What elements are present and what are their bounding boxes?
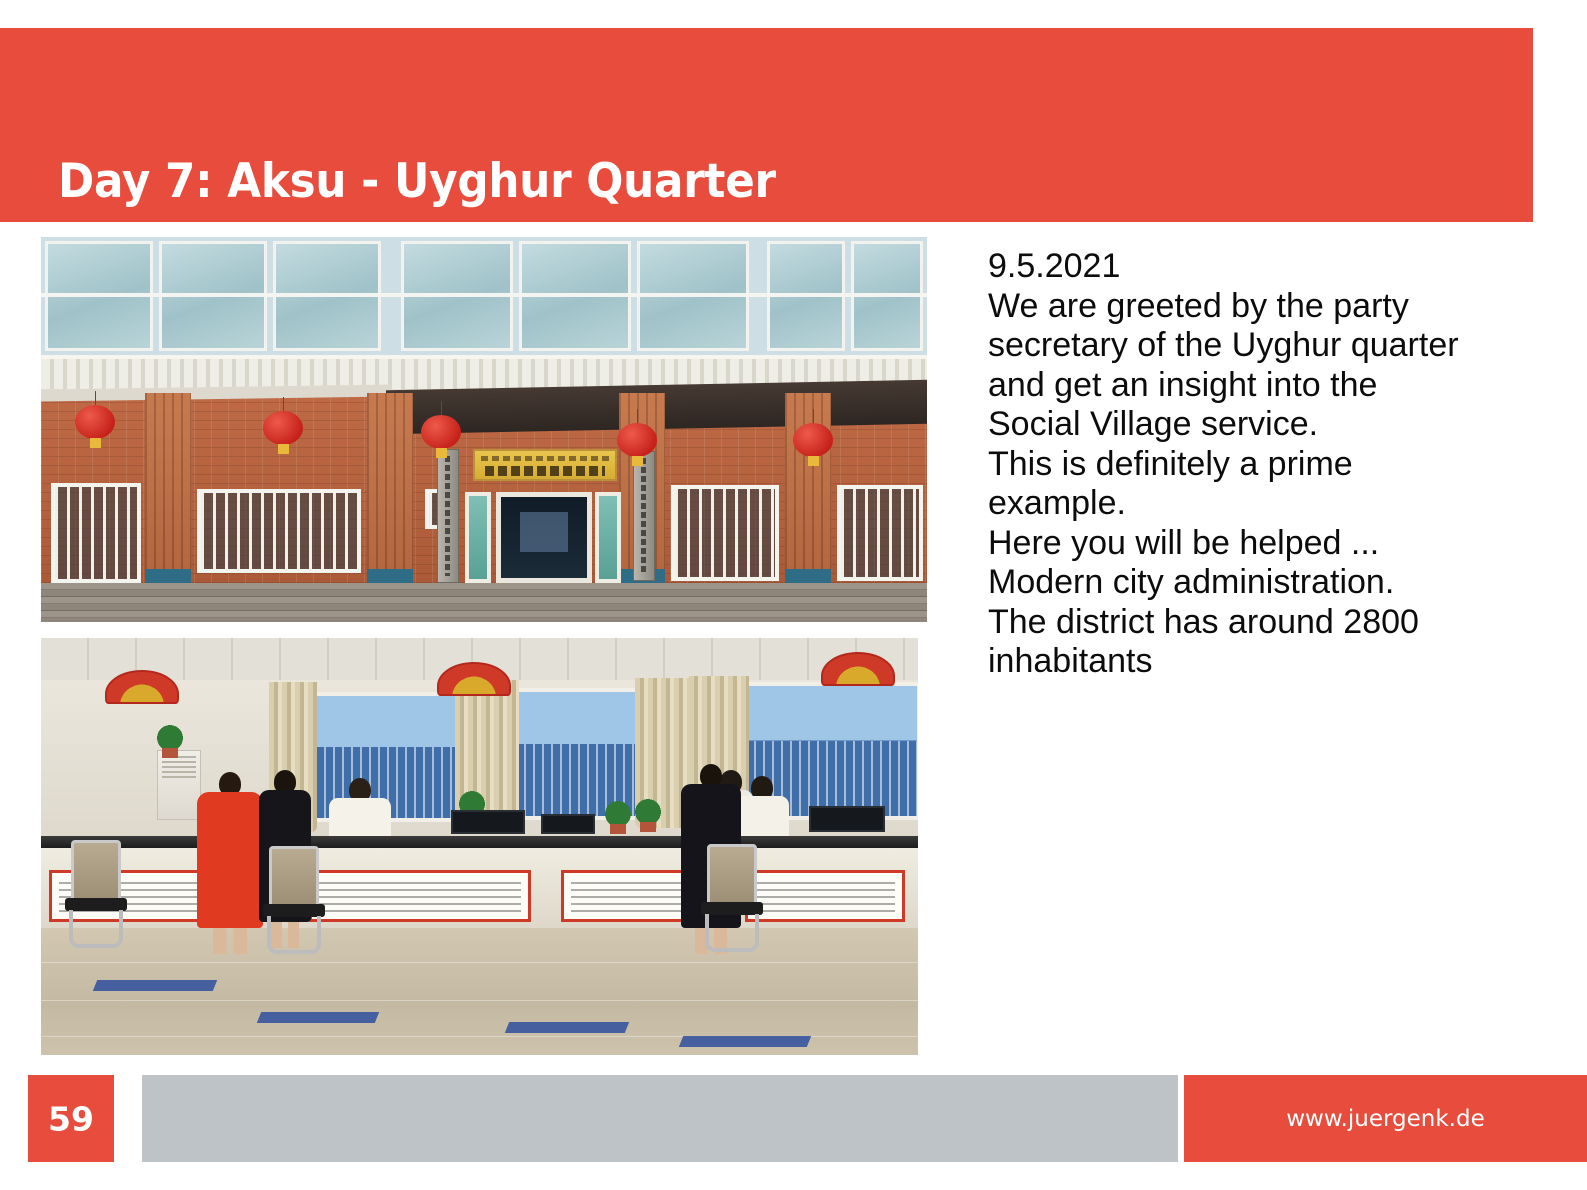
title-banner: Day 7: Aksu - Uyghur Quarter [0,28,1533,222]
red-lantern [421,415,461,449]
waiting-chair [263,846,325,954]
body-line: We are greeted by the party [988,287,1508,327]
photo-service-hall [41,638,918,1055]
wall-plaque [437,449,459,583]
entrance-door [496,492,592,583]
barred-window [51,483,141,583]
red-lantern [793,423,833,457]
body-line: and get an insight into the [988,366,1508,406]
red-lantern [263,411,303,445]
counter-poster [745,870,905,922]
body-line: The district has around 2800 [988,603,1508,643]
entrance-side-panel [465,492,491,583]
computer-monitor [541,814,595,834]
red-lantern [617,423,657,457]
body-line: This is definitely a prime [988,445,1508,485]
service-counter-top [41,836,918,848]
staff-member [329,778,391,840]
waiting-chair [65,840,127,948]
pilaster-column [367,393,413,583]
pilaster-column [145,393,191,583]
hall-floor [41,928,918,1055]
flower-arrangement [153,720,187,750]
footer-divider-bar [142,1075,1178,1162]
entrance-side-panel [595,492,621,583]
slide-body-text: 9.5.2021 We are greeted by the party sec… [988,247,1508,682]
entrance-signboard [473,449,617,481]
barred-window [671,485,779,581]
entrance-steps [41,583,927,622]
page-number: 59 [28,1099,114,1138]
waiting-chair [701,844,763,952]
photo-building-exterior [41,237,927,622]
staff-member [735,776,789,840]
body-line: Social Village service. [988,405,1508,445]
potted-plant [601,796,635,826]
barred-window [197,489,361,573]
page-number-badge: 59 [28,1075,114,1162]
window-mullion [41,293,927,297]
body-line: Modern city administration. [988,563,1508,603]
body-line: inhabitants [988,642,1508,682]
potted-plant [631,794,665,824]
website-url[interactable]: www.juergenk.de [1184,1106,1587,1132]
body-line: 9.5.2021 [988,247,1508,287]
body-line: secretary of the Uyghur quarter [988,326,1508,366]
computer-monitor [451,810,525,834]
pilaster-column [785,393,831,583]
air-conditioner [157,750,201,820]
visitor-in-red-dress [197,772,263,928]
wall-plaque [633,451,655,581]
page-title: Day 7: Aksu - Uyghur Quarter [58,154,776,209]
red-lantern [75,405,115,439]
barred-window [837,485,923,581]
footer-url-banner: www.juergenk.de [1184,1075,1587,1162]
body-line: Here you will be helped ... [988,524,1508,564]
body-line: example. [988,484,1508,524]
computer-monitor [809,806,885,832]
counter-poster [309,870,531,922]
